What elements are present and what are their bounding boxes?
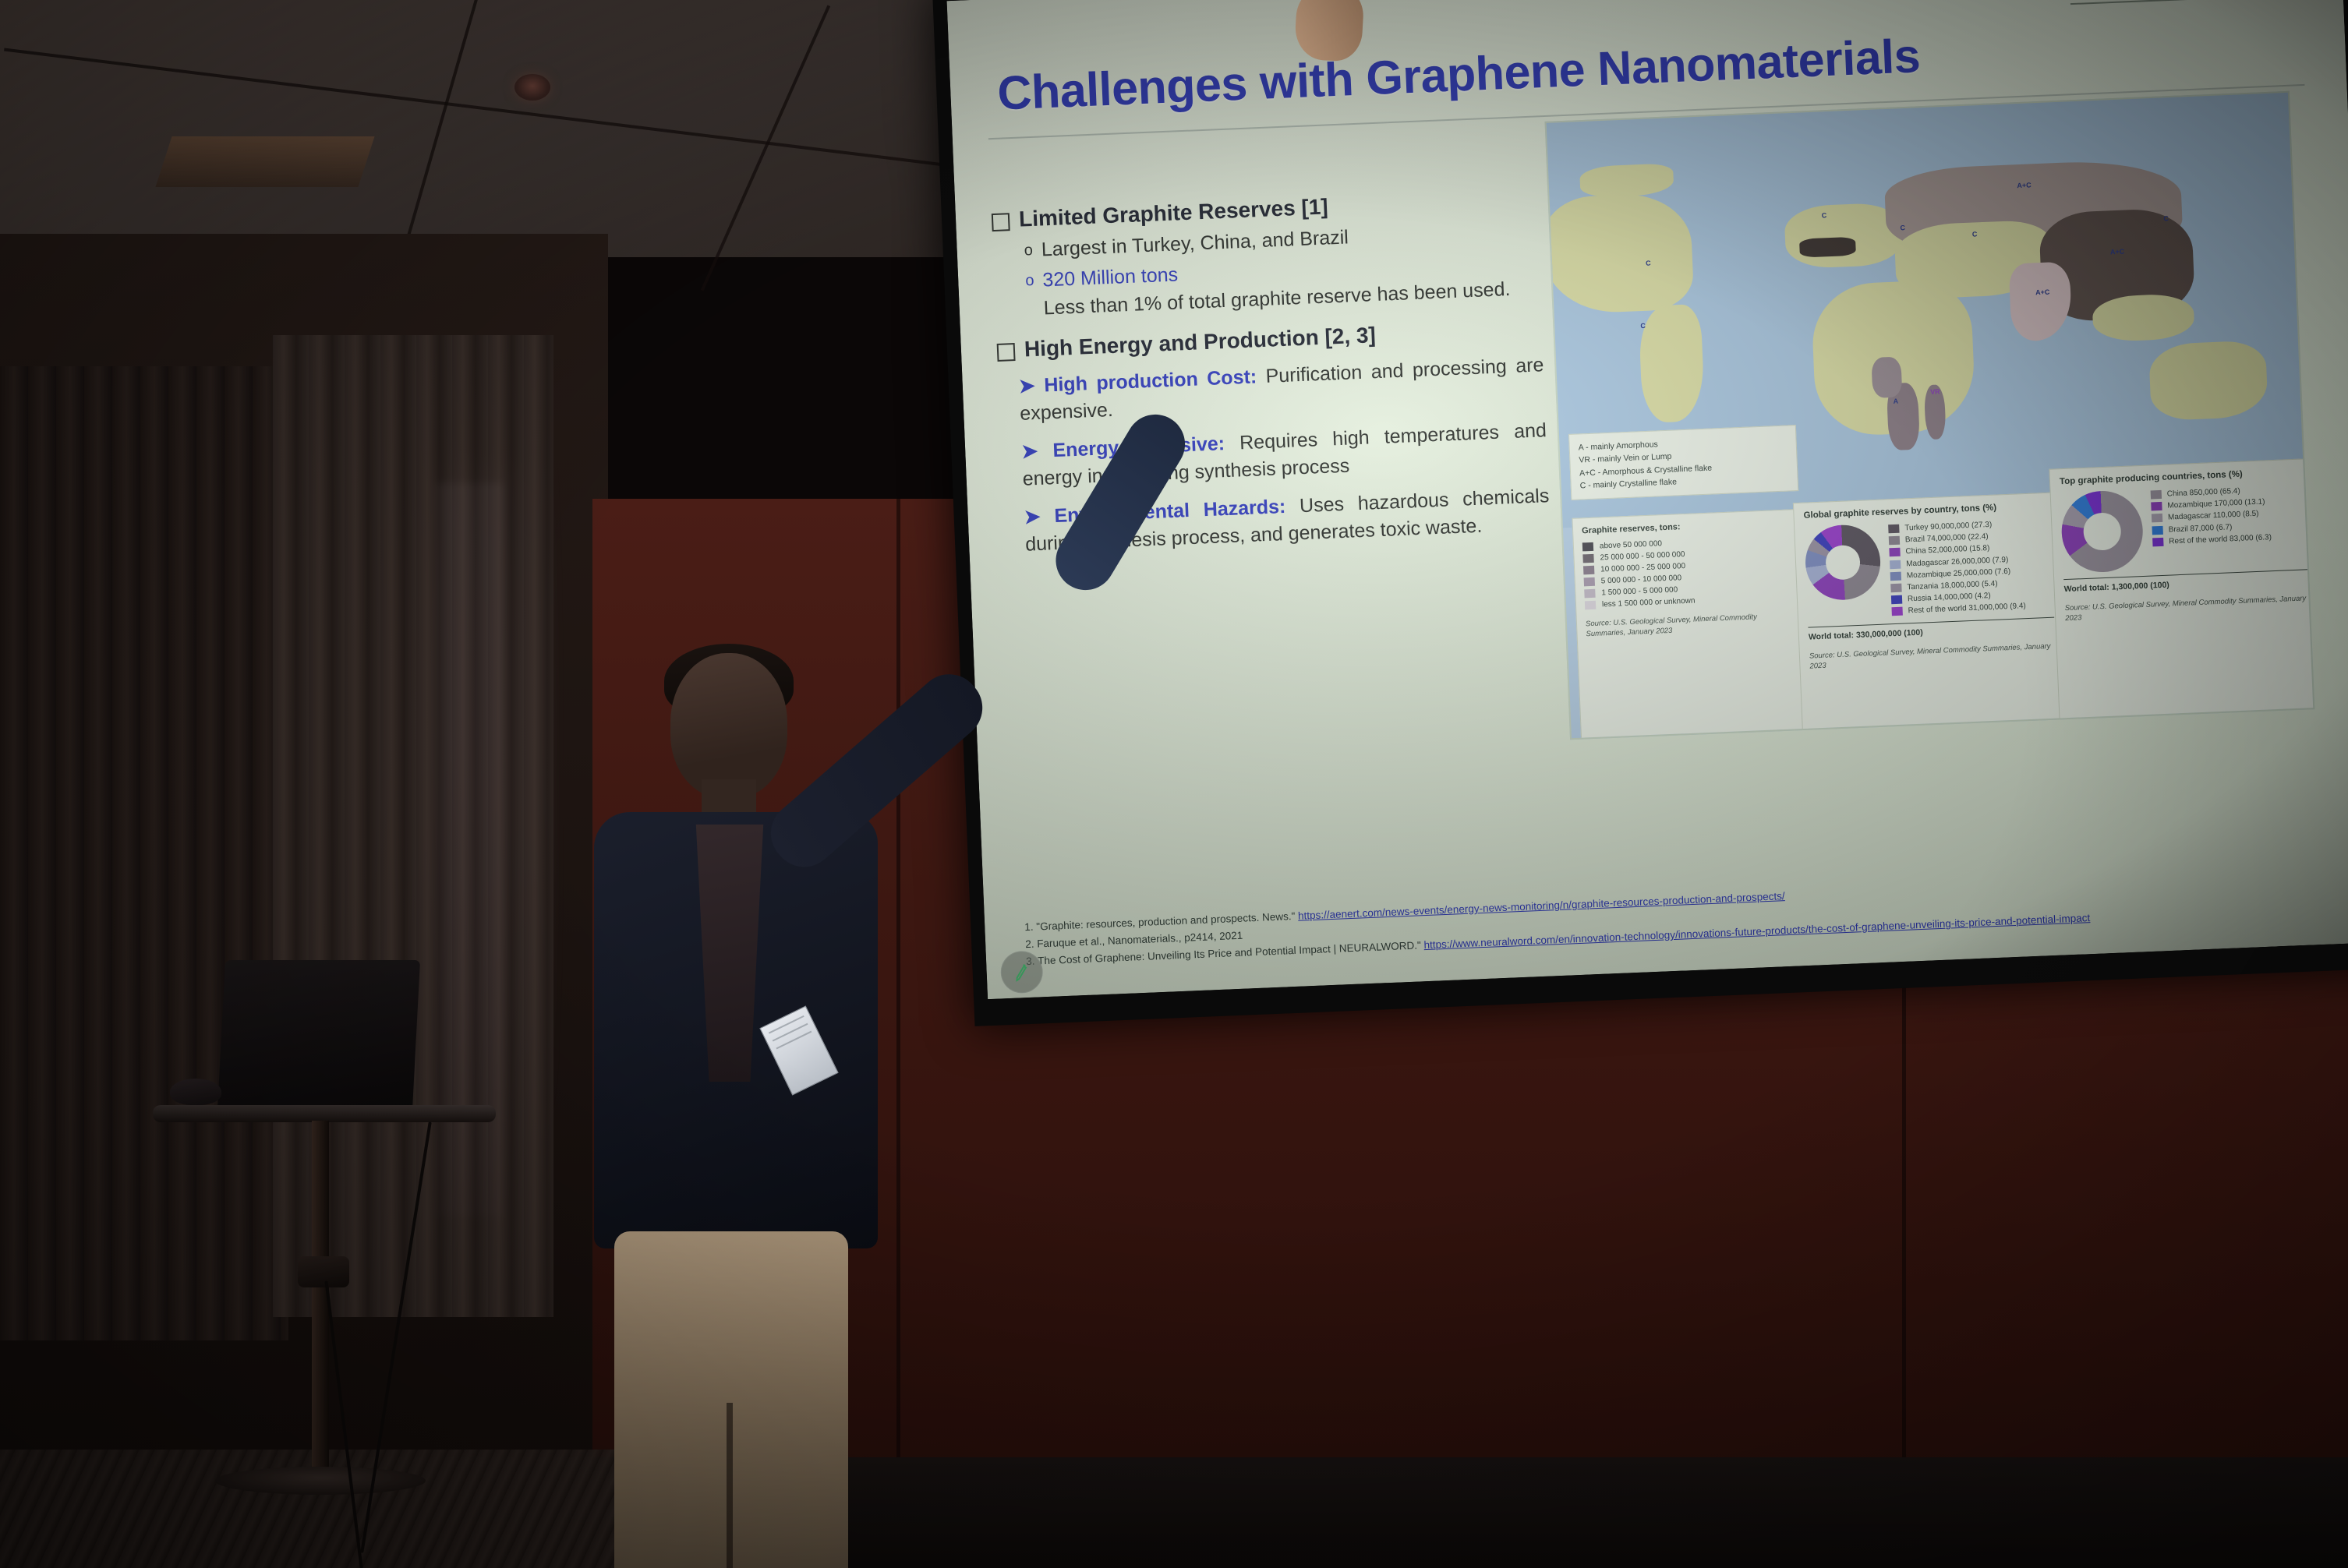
laptop-stand (153, 952, 496, 1568)
logo-underline (2070, 0, 2328, 5)
arrow-bullet-icon: ➤ (1021, 440, 1038, 462)
square-bullet-icon (992, 213, 1010, 231)
conference-room-scene: Khalifa University جامعة خليفة ku.ac.ae … (0, 0, 2348, 1568)
map-label-a: A (1893, 397, 1898, 405)
map-key-box: A - mainly Amorphous VR - mainly Vein or… (1568, 425, 1798, 500)
legend-swatch (1889, 548, 1900, 557)
bullet-list: Limited Graphite Reserves [1] o Largest … (992, 185, 1551, 560)
legend-swatch (1889, 536, 1900, 546)
legend-swatch (1583, 566, 1594, 575)
arrow-bullet-key: High production Cost: (1044, 366, 1257, 396)
reserves-legend: Graphite reserves, tons: above 50 000 00… (1572, 509, 1809, 740)
legend-swatch (1582, 554, 1593, 563)
legend-swatch (2151, 502, 2162, 511)
stand-adjust-knob[interactable] (298, 1256, 349, 1287)
arrow-bullet: ➤ High production Cost: Purification and… (1018, 351, 1545, 428)
map-label-ac: A+C (2110, 248, 2125, 256)
graphite-infographic: Source: U.S. Geological Survey, Mineral … (1545, 91, 2315, 740)
circle-bullet-icon: o (1025, 270, 1034, 292)
reserves-legend-rows: above 50 000 00025 000 000 - 50 000 0001… (1582, 534, 1794, 609)
legend-swatch (1890, 560, 1901, 569)
legend-swatch (2151, 490, 2162, 500)
land-tanzania (1871, 356, 1902, 398)
ceiling-light-icon (515, 74, 550, 101)
legend-swatch (1585, 601, 1596, 610)
map-label-c: C (1646, 260, 1651, 267)
circle-bullet-icon: o (1024, 239, 1033, 262)
legend-swatch (1891, 595, 1902, 605)
reserves-legend-source: Source: U.S. Geological Survey, Mineral … (1586, 610, 1795, 640)
ceiling-panel (155, 136, 374, 187)
legend-label: above 50 000 000 (1600, 539, 1662, 550)
pen-icon (1010, 960, 1034, 985)
map-label-c: C (1640, 322, 1646, 330)
power-cable (324, 1280, 367, 1568)
legend-swatch (1890, 572, 1901, 581)
land-greenland (1579, 163, 1674, 198)
computer-mouse[interactable] (170, 1079, 221, 1105)
legend-swatch (1890, 584, 1901, 593)
legend-swatch (2152, 526, 2162, 535)
bullet-heading-2-text: High Energy and Production [2, 3] (1024, 323, 1376, 362)
legend-label: less 1 500 000 or unknown (1602, 597, 1696, 609)
chart-body: China 850,000 (65.4)Mozambique 170,000 (… (2060, 482, 2308, 574)
legend-swatch (1582, 542, 1593, 552)
map-label-ac: A+C (2035, 288, 2050, 297)
trouser-seam (727, 1403, 733, 1568)
chart-body: Turkey 90,000,000 (27.3)Brazil 74,000,00… (1804, 517, 2054, 621)
chart-global-reserves: Global graphite reserves by country, ton… (1793, 492, 2069, 735)
legend-label: 1 500 000 - 5 000 000 (1601, 585, 1678, 597)
bullet-heading-1-text: Limited Graphite Reserves [1] (1018, 194, 1328, 231)
land-australia (2148, 340, 2268, 421)
land-turkey (1799, 237, 1856, 258)
chart-legend: Turkey 90,000,000 (27.3)Brazil 74,000,00… (1888, 517, 2026, 617)
stand-tabletop (153, 1105, 496, 1122)
donut-chart (2060, 489, 2145, 574)
presenter-head (670, 653, 787, 798)
chart-source: Source: U.S. Geological Survey, Mineral … (2064, 593, 2310, 623)
legend-swatch (2152, 538, 2163, 547)
legend-swatch (1891, 607, 1902, 616)
arrow-bullet-icon: ➤ (1018, 375, 1035, 397)
chart-total: World total: 330,000,000 (100) (1808, 616, 2055, 641)
laptop[interactable] (217, 960, 420, 1110)
map-label-vr: VR (1930, 387, 1940, 396)
donut-hole (1825, 545, 1861, 581)
presentation-slide: Khalifa University جامعة خليفة ku.ac.ae … (947, 0, 2348, 999)
screen-surface: Khalifa University جامعة خليفة ku.ac.ae … (947, 0, 2348, 999)
legend-swatch (1888, 524, 1899, 534)
chart-top-producers: Top graphite producing countries, tons (… (2049, 458, 2314, 725)
map-label-ac: A+C (2017, 181, 2032, 189)
presenter (546, 639, 982, 1568)
land-north-america (1547, 192, 1695, 315)
stand-base (215, 1467, 426, 1495)
legend-swatch (2152, 514, 2162, 523)
chart-legend: China 850,000 (65.4)Mozambique 170,000 (… (2151, 484, 2272, 548)
references-list: "Graphite: resources, production and pro… (1020, 866, 2346, 971)
map-label-c: C (1972, 230, 1978, 238)
sub-bullet-text: Largest in Turkey, China, and Brazil (1041, 226, 1349, 261)
badge-line (776, 1031, 812, 1050)
map-label-c: C (1900, 224, 1905, 231)
land-south-america (1638, 304, 1705, 423)
chart-total: World total: 1,300,000 (100) (2063, 569, 2309, 594)
map-label-c: C (1822, 211, 1827, 219)
legend-label: 10 000 000 - 25 000 000 (1600, 562, 1685, 574)
land-india (2009, 261, 2073, 341)
donut-chart (1804, 524, 1882, 602)
legend-label: 25 000 000 - 50 000 000 (1600, 550, 1685, 562)
arrow-bullet-icon: ➤ (1024, 505, 1041, 528)
legend-swatch (1584, 577, 1595, 587)
donut-hole (2083, 512, 2122, 551)
sub-bullet-text: 320 Million tons (1042, 263, 1179, 291)
badge-line (773, 1023, 808, 1042)
square-bullet-icon (997, 343, 1016, 362)
map-label-c: C (2163, 214, 2169, 222)
reserves-legend-title: Graphite reserves, tons: (1582, 517, 1791, 535)
legend-swatch (1584, 589, 1595, 599)
chart-source: Source: U.S. Geological Survey, Mineral … (1809, 641, 2056, 672)
legend-label: 5 000 000 - 10 000 000 (1601, 574, 1682, 585)
